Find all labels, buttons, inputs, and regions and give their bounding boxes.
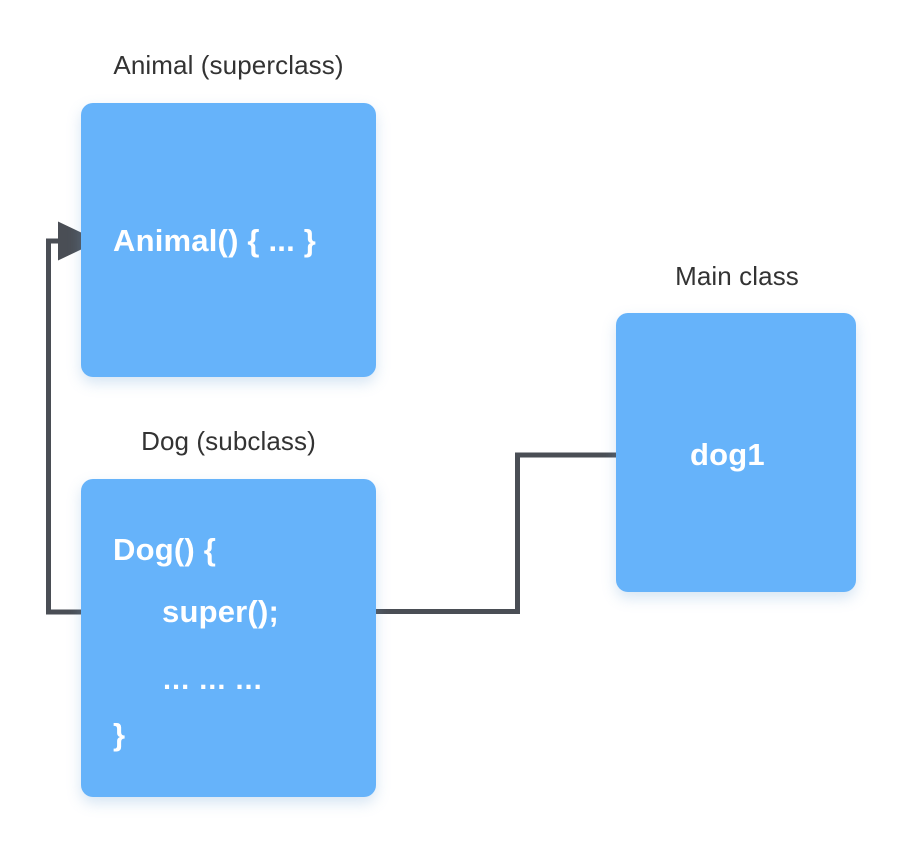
dog-super-call-code: super(); bbox=[162, 596, 279, 627]
animal-class-caption: Animal (superclass) bbox=[81, 52, 376, 78]
main-class-caption: Main class bbox=[616, 263, 858, 289]
main-object-label: dog1 bbox=[690, 439, 765, 470]
diagram-canvas: Animal (superclass) Animal() { ... } Dog… bbox=[0, 0, 904, 848]
dog-constructor-close-code: } bbox=[113, 719, 125, 750]
dog-class-caption: Dog (subclass) bbox=[81, 428, 376, 454]
animal-constructor-code: Animal() { ... } bbox=[113, 225, 316, 256]
dog-constructor-open-code: Dog() { bbox=[113, 534, 216, 565]
dog-body-ellipsis-code: ... ... ... bbox=[163, 666, 263, 695]
